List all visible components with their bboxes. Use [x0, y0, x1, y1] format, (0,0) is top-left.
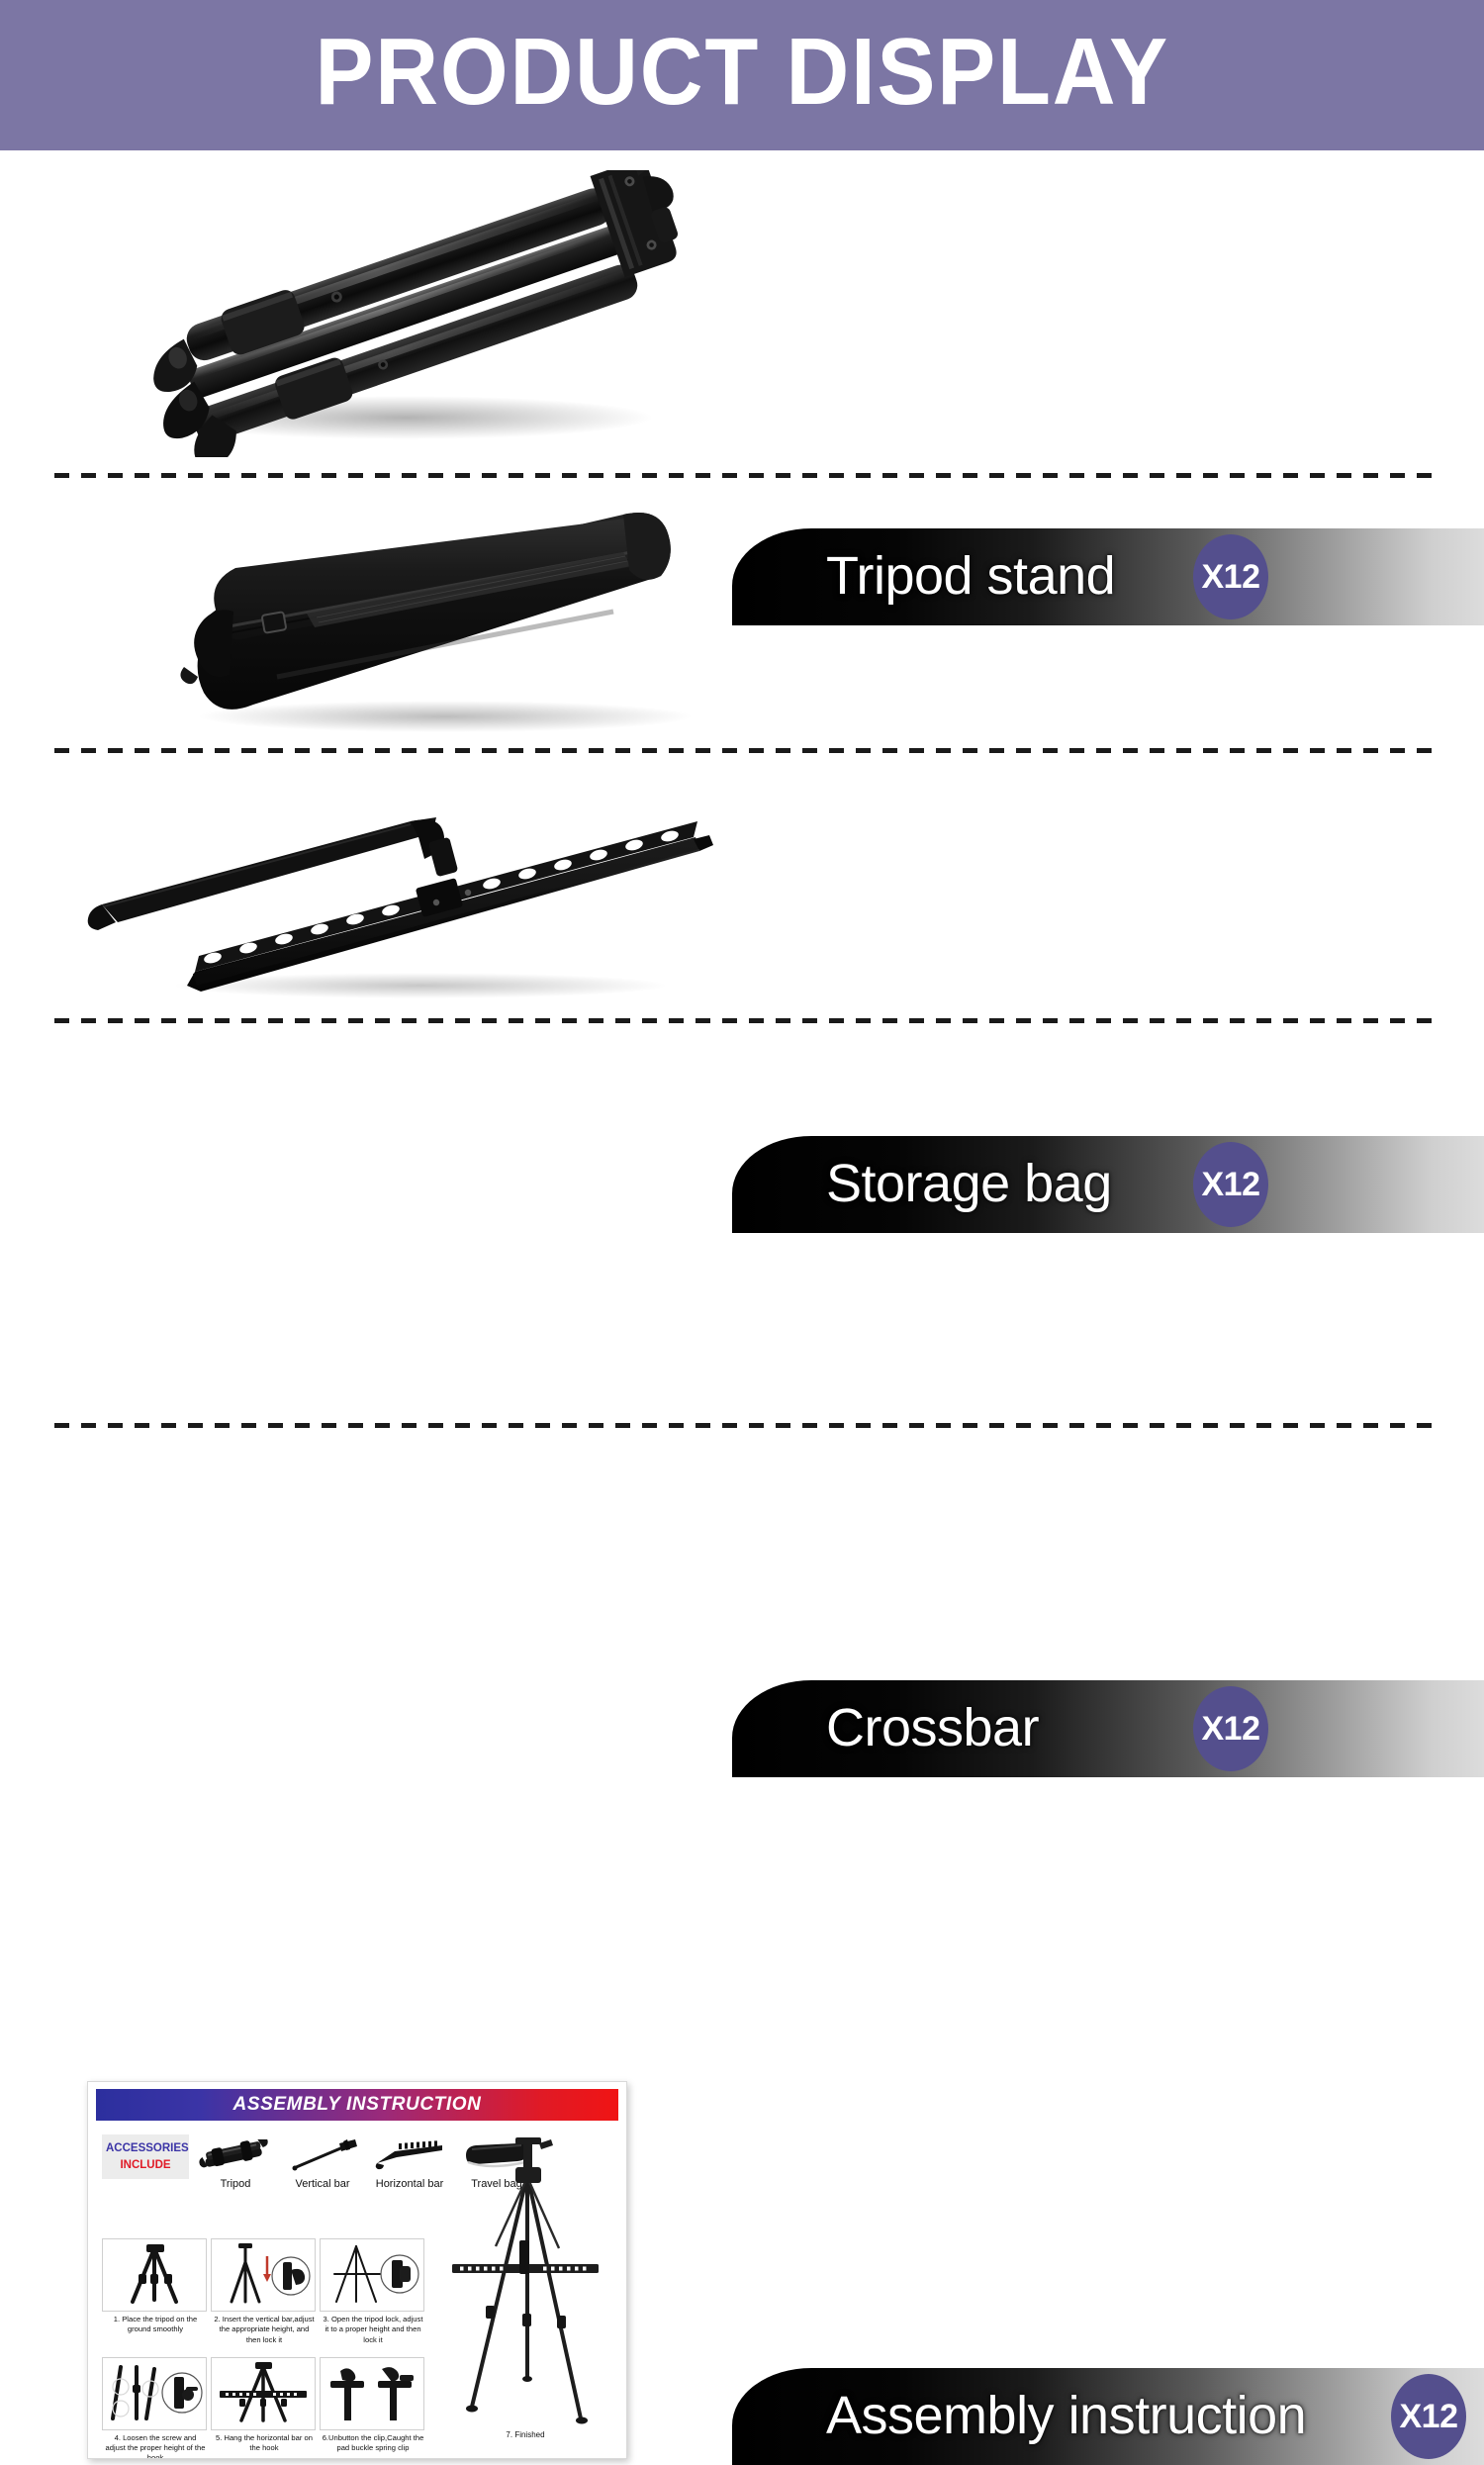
step-cell-4: 4. Loosen the screw and adjust the prope… [102, 2357, 211, 2459]
accessory-tripod-icon [195, 2134, 276, 2178]
header-banner: PRODUCT DISPLAY [0, 0, 1484, 150]
finished-easel-image [436, 2130, 614, 2426]
accessory-label-vertical-bar: Vertical bar [282, 2178, 363, 2190]
divider-4 [54, 1423, 1439, 1428]
divider-1 [54, 473, 1439, 478]
accessories-tag-line-2: INCLUDE [106, 2157, 185, 2174]
step-cell-1: 1. Place the tripod on the ground smooth… [102, 2238, 211, 2351]
step-cell-2: 2. Insert the vertical bar,adjust the ap… [211, 2238, 320, 2351]
step-caption-1: 1. Place the tripod on the ground smooth… [102, 2312, 211, 2341]
crossbar-image [84, 788, 737, 1005]
accessory-vertical-bar-icon [282, 2134, 363, 2178]
step-caption-2: 2. Insert the vertical bar,adjust the ap… [211, 2312, 320, 2351]
step-image-2 [211, 2238, 316, 2312]
accessories-include-tag: ACCESSORIES INCLUDE [102, 2134, 189, 2179]
divider-2 [54, 748, 1439, 753]
product-row-storage-bag: Storage bag X12 [0, 485, 1484, 758]
steps-row-bottom: 4. Loosen the screw and adjust the prope… [102, 2357, 428, 2459]
label-text-crossbar: Crossbar [826, 1697, 1039, 1758]
step-cell-5: 5. Hang the horizontal bar on the hook [211, 2357, 320, 2459]
finished-easel-caption: 7. Finished [436, 2430, 614, 2439]
step-image-5 [211, 2357, 316, 2430]
step-caption-4: 4. Loosen the screw and adjust the prope… [102, 2430, 211, 2459]
page-title: PRODUCT DISPLAY [315, 25, 1168, 126]
product-row-assembly-instruction: ASSEMBLY INSTRUCTION ACCESSORIES INCLUDE [0, 1030, 1484, 1442]
sheet-header: ASSEMBLY INSTRUCTION [96, 2089, 618, 2121]
step-image-4 [102, 2357, 207, 2430]
label-banner-crossbar[interactable]: Crossbar X12 [732, 1680, 1484, 1777]
accessories-tag-line-1: ACCESSORIES [106, 2140, 185, 2157]
sheet-title: ASSEMBLY INSTRUCTION [233, 2094, 482, 2116]
step-image-3 [320, 2238, 424, 2312]
accessory-item-vertical-bar: Vertical bar [282, 2134, 363, 2190]
assembly-instruction-sheet: ASSEMBLY INSTRUCTION ACCESSORIES INCLUDE [87, 2081, 627, 2459]
qty-badge-assembly-instruction: X12 [1391, 2374, 1466, 2459]
step-cell-3: 3. Open the tripod lock, adjust it to a … [320, 2238, 428, 2351]
step-image-6 [320, 2357, 424, 2430]
accessory-item-tripod: Tripod [195, 2134, 276, 2190]
step-cell-6: 6.Unbutton the clip,Caught the pad buckl… [320, 2357, 428, 2459]
step-caption-5: 5. Hang the horizontal bar on the hook [211, 2430, 320, 2459]
label-banner-assembly-instruction[interactable]: Assembly instruction X12 [732, 2368, 1484, 2465]
step-image-1 [102, 2238, 207, 2312]
product-row-tripod-stand: Tripod stand X12 [0, 150, 1484, 485]
tripod-folded-image [109, 170, 702, 457]
storage-bag-image [158, 493, 712, 740]
step-caption-3: 3. Open the tripod lock, adjust it to a … [320, 2312, 428, 2351]
step-caption-6: 6.Unbutton the clip,Caught the pad buckl… [320, 2430, 428, 2459]
accessory-label-tripod: Tripod [195, 2178, 276, 2190]
label-text-assembly-instruction: Assembly instruction [826, 2385, 1306, 2446]
qty-badge-crossbar: X12 [1193, 1686, 1268, 1771]
steps-grid: 1. Place the tripod on the ground smooth… [102, 2238, 428, 2459]
steps-row-top: 1. Place the tripod on the ground smooth… [102, 2238, 428, 2351]
divider-3 [54, 1018, 1439, 1023]
product-row-crossbar: Crossbar X12 [0, 758, 1484, 1030]
